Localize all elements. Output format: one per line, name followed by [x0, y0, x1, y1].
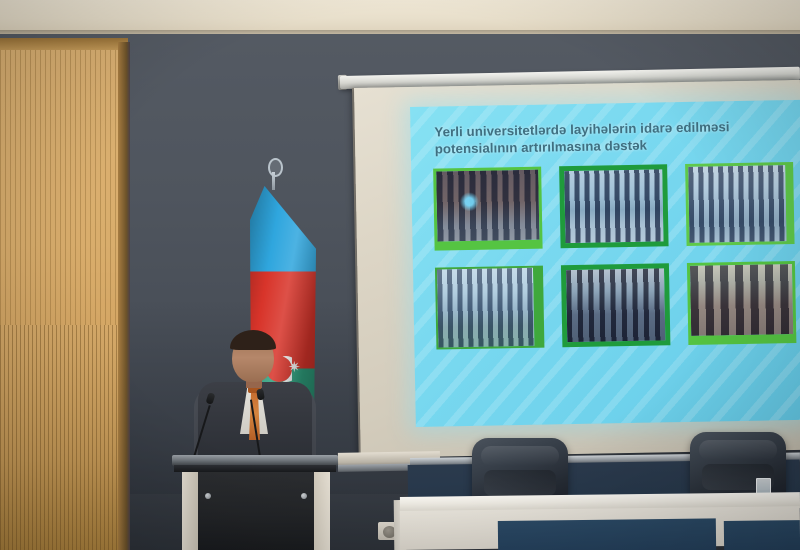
slide-photo-image	[690, 264, 793, 336]
slide-photo	[687, 261, 796, 345]
podium-screw	[205, 493, 211, 499]
projected-slide: Yerli universitetlərdə layihələrin idarə…	[410, 100, 800, 427]
slide-photo-row-top	[433, 162, 794, 251]
slide-photo-row-bottom	[435, 261, 796, 350]
slide-photo-image	[436, 170, 539, 242]
podium	[175, 455, 335, 550]
ceiling	[0, 0, 800, 34]
slide-photo-image	[688, 165, 786, 243]
wood-acoustic-panel-lower	[0, 325, 120, 550]
speaker-figure	[196, 332, 314, 472]
table-panel-inset	[724, 520, 800, 550]
slide-photo	[685, 162, 794, 246]
slide-photo-grid	[433, 162, 797, 367]
podium-post-left	[182, 472, 198, 550]
slide-photo	[559, 164, 668, 248]
wood-panel-edge	[118, 42, 130, 550]
slide-photo-image	[437, 268, 534, 348]
podium-screw	[301, 493, 307, 499]
slide-photo	[433, 167, 542, 251]
speaker-hair	[230, 330, 276, 350]
slide-title: Yerli universitetlərdə layihələrin idarə…	[434, 117, 775, 157]
slide-photo	[435, 266, 544, 350]
table-panel-inset	[498, 518, 716, 550]
slide-photo	[561, 263, 670, 347]
flag-finial-icon	[268, 158, 283, 177]
wood-panel-top-trim	[0, 38, 128, 50]
slide-photo-image	[566, 268, 665, 342]
flag-pole	[272, 172, 275, 190]
microphone-right-head	[256, 389, 265, 401]
podium-top-edge	[174, 465, 336, 472]
podium-front-panel	[182, 472, 330, 550]
conference-photo-scene: Yerli universitetlərdə layihələrin idarə…	[0, 0, 800, 550]
slide-photo-image	[564, 169, 663, 243]
podium-post-right	[314, 472, 330, 550]
